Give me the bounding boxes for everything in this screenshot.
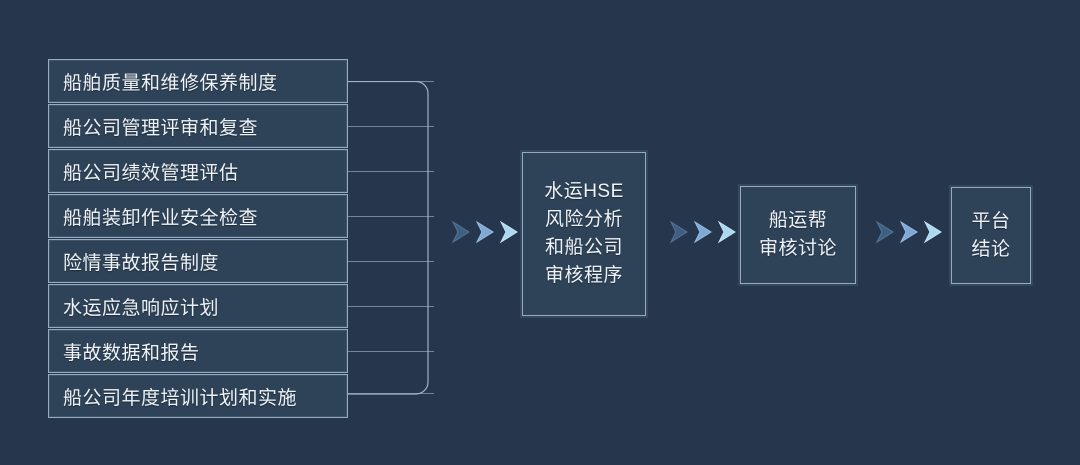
list-item[interactable]: 船公司绩效管理评估: [48, 149, 348, 193]
arrow-group-to-conclusion: [874, 219, 944, 245]
process-box-line: 平台: [971, 208, 1010, 236]
chevron-right-icon: [716, 219, 738, 245]
chevron-right-icon: [450, 219, 472, 245]
process-box-line: 水运HSE: [544, 178, 624, 206]
bracket-connector: [348, 81, 434, 393]
list-item-label: 船公司年度培训计划和实施: [63, 383, 297, 410]
list-item[interactable]: 船舶装卸作业安全检查: [48, 194, 348, 238]
list-item[interactable]: 事故数据和报告: [48, 329, 348, 373]
list-item[interactable]: 船公司管理评审和复查: [48, 104, 348, 148]
list-item[interactable]: 船公司年度培训计划和实施: [48, 374, 348, 418]
arrow-group-to-hse: [450, 219, 520, 245]
list-item-label: 船舶装卸作业安全检查: [63, 203, 258, 230]
chevron-right-icon: [692, 219, 714, 245]
process-box-line: 风险分析: [545, 206, 623, 234]
list-item-label: 险情事故报告制度: [63, 248, 219, 275]
process-box-hse[interactable]: 水运HSE 风险分析 和船公司 审核程序: [522, 152, 646, 316]
chevron-right-icon: [474, 219, 496, 245]
list-item-label: 事故数据和报告: [63, 338, 200, 365]
chevron-right-icon: [498, 219, 520, 245]
chevron-right-icon: [874, 219, 896, 245]
process-box-line: 船运帮: [769, 207, 828, 235]
chevron-right-icon: [922, 219, 944, 245]
list-item-label: 船公司管理评审和复查: [63, 113, 258, 140]
chevron-right-icon: [668, 219, 690, 245]
list-item-label: 船舶质量和维修保养制度: [63, 68, 278, 95]
list-item-label: 水运应急响应计划: [63, 293, 219, 320]
process-box-line: 审核讨论: [759, 235, 837, 263]
list-item[interactable]: 船舶质量和维修保养制度: [48, 59, 348, 103]
process-box-line: 结论: [971, 236, 1010, 264]
list-item[interactable]: 险情事故报告制度: [48, 239, 348, 283]
process-box-line: 审核程序: [545, 262, 623, 290]
arrow-group-to-review: [668, 219, 738, 245]
input-list: 船舶质量和维修保养制度 船公司管理评审和复查 船公司绩效管理评估 船舶装卸作业安…: [48, 59, 348, 419]
list-item[interactable]: 水运应急响应计划: [48, 284, 348, 328]
process-box-conclusion[interactable]: 平台 结论: [951, 187, 1031, 284]
list-item-label: 船公司绩效管理评估: [63, 158, 239, 185]
chevron-right-icon: [898, 219, 920, 245]
process-box-review[interactable]: 船运帮 审核讨论: [740, 186, 856, 284]
diagram-canvas: 船舶质量和维修保养制度 船公司管理评审和复查 船公司绩效管理评估 船舶装卸作业安…: [0, 0, 1080, 465]
process-box-line: 和船公司: [545, 234, 623, 262]
